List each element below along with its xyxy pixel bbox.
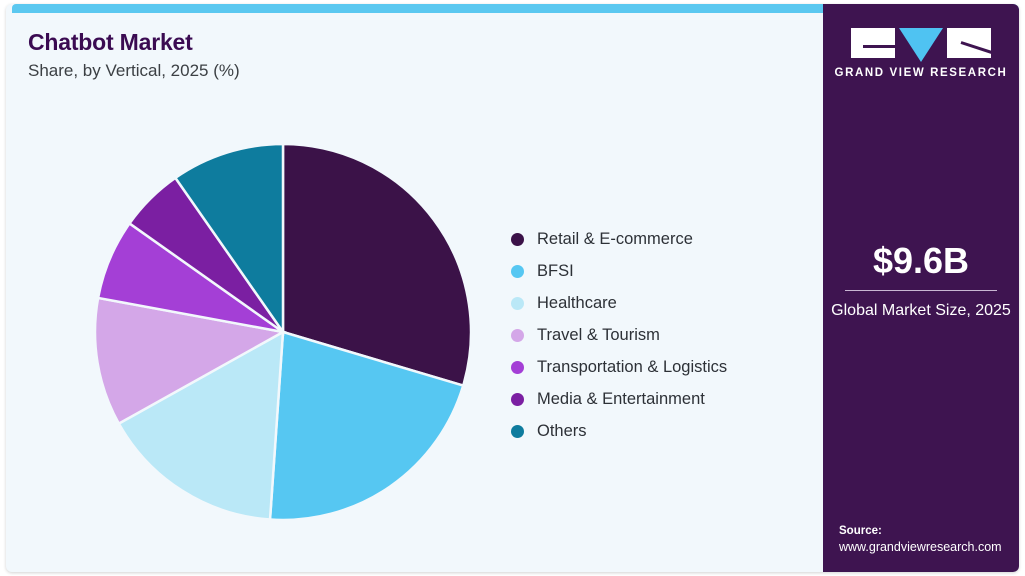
- brand-logo: GRAND VIEW RESEARCH: [823, 28, 1019, 79]
- legend-swatch-icon: [511, 329, 524, 342]
- logo-v-triangle-icon: [899, 28, 943, 62]
- stat-divider: [845, 290, 997, 291]
- legend-swatch-icon: [511, 425, 524, 438]
- source-label: Source:: [839, 523, 1002, 539]
- legend-swatch-icon: [511, 361, 524, 374]
- market-size-stat: $9.6B Global Market Size, 2025: [823, 240, 1019, 322]
- logo-wordmark: GRAND VIEW RESEARCH: [835, 67, 1008, 79]
- pie-chart-svg: [95, 144, 471, 520]
- chart-card: Chatbot Market Share, by Vertical, 2025 …: [6, 4, 1019, 572]
- chart-legend: Retail & E-commerceBFSIHealthcareTravel …: [511, 223, 727, 447]
- source-block: Source: www.grandviewresearch.com: [839, 523, 1002, 556]
- legend-swatch-icon: [511, 233, 524, 246]
- legend-item-label: Others: [537, 422, 587, 440]
- legend-item-label: Travel & Tourism: [537, 326, 660, 344]
- pie-chart: [95, 144, 471, 520]
- logo-r-icon: [947, 28, 991, 58]
- legend-item[interactable]: BFSI: [511, 255, 727, 287]
- chart-header: Chatbot Market Share, by Vertical, 2025 …: [28, 28, 240, 83]
- legend-item-label: Healthcare: [537, 294, 617, 312]
- legend-item[interactable]: Transportation & Logistics: [511, 351, 727, 383]
- legend-item[interactable]: Travel & Tourism: [511, 319, 727, 351]
- legend-item[interactable]: Media & Entertainment: [511, 383, 727, 415]
- legend-swatch-icon: [511, 393, 524, 406]
- legend-item-label: Retail & E-commerce: [537, 230, 693, 248]
- page-title: Chatbot Market: [28, 28, 240, 56]
- logo-marks: [851, 28, 991, 58]
- legend-item[interactable]: Retail & E-commerce: [511, 223, 727, 255]
- legend-item-label: BFSI: [537, 262, 574, 280]
- stat-value: $9.6B: [823, 240, 1019, 282]
- legend-swatch-icon: [511, 297, 524, 310]
- legend-item-label: Transportation & Logistics: [537, 358, 727, 376]
- source-url[interactable]: www.grandviewresearch.com: [839, 539, 1002, 556]
- stat-caption: Global Market Size, 2025: [823, 300, 1019, 322]
- chart-infographic: Chatbot Market Share, by Vertical, 2025 …: [0, 0, 1025, 576]
- page-subtitle: Share, by Vertical, 2025 (%): [28, 59, 240, 83]
- legend-item[interactable]: Others: [511, 415, 727, 447]
- logo-g-icon: [851, 28, 895, 58]
- legend-item[interactable]: Healthcare: [511, 287, 727, 319]
- legend-swatch-icon: [511, 265, 524, 278]
- side-panel: GRAND VIEW RESEARCH $9.6B Global Market …: [823, 4, 1019, 572]
- legend-item-label: Media & Entertainment: [537, 390, 705, 408]
